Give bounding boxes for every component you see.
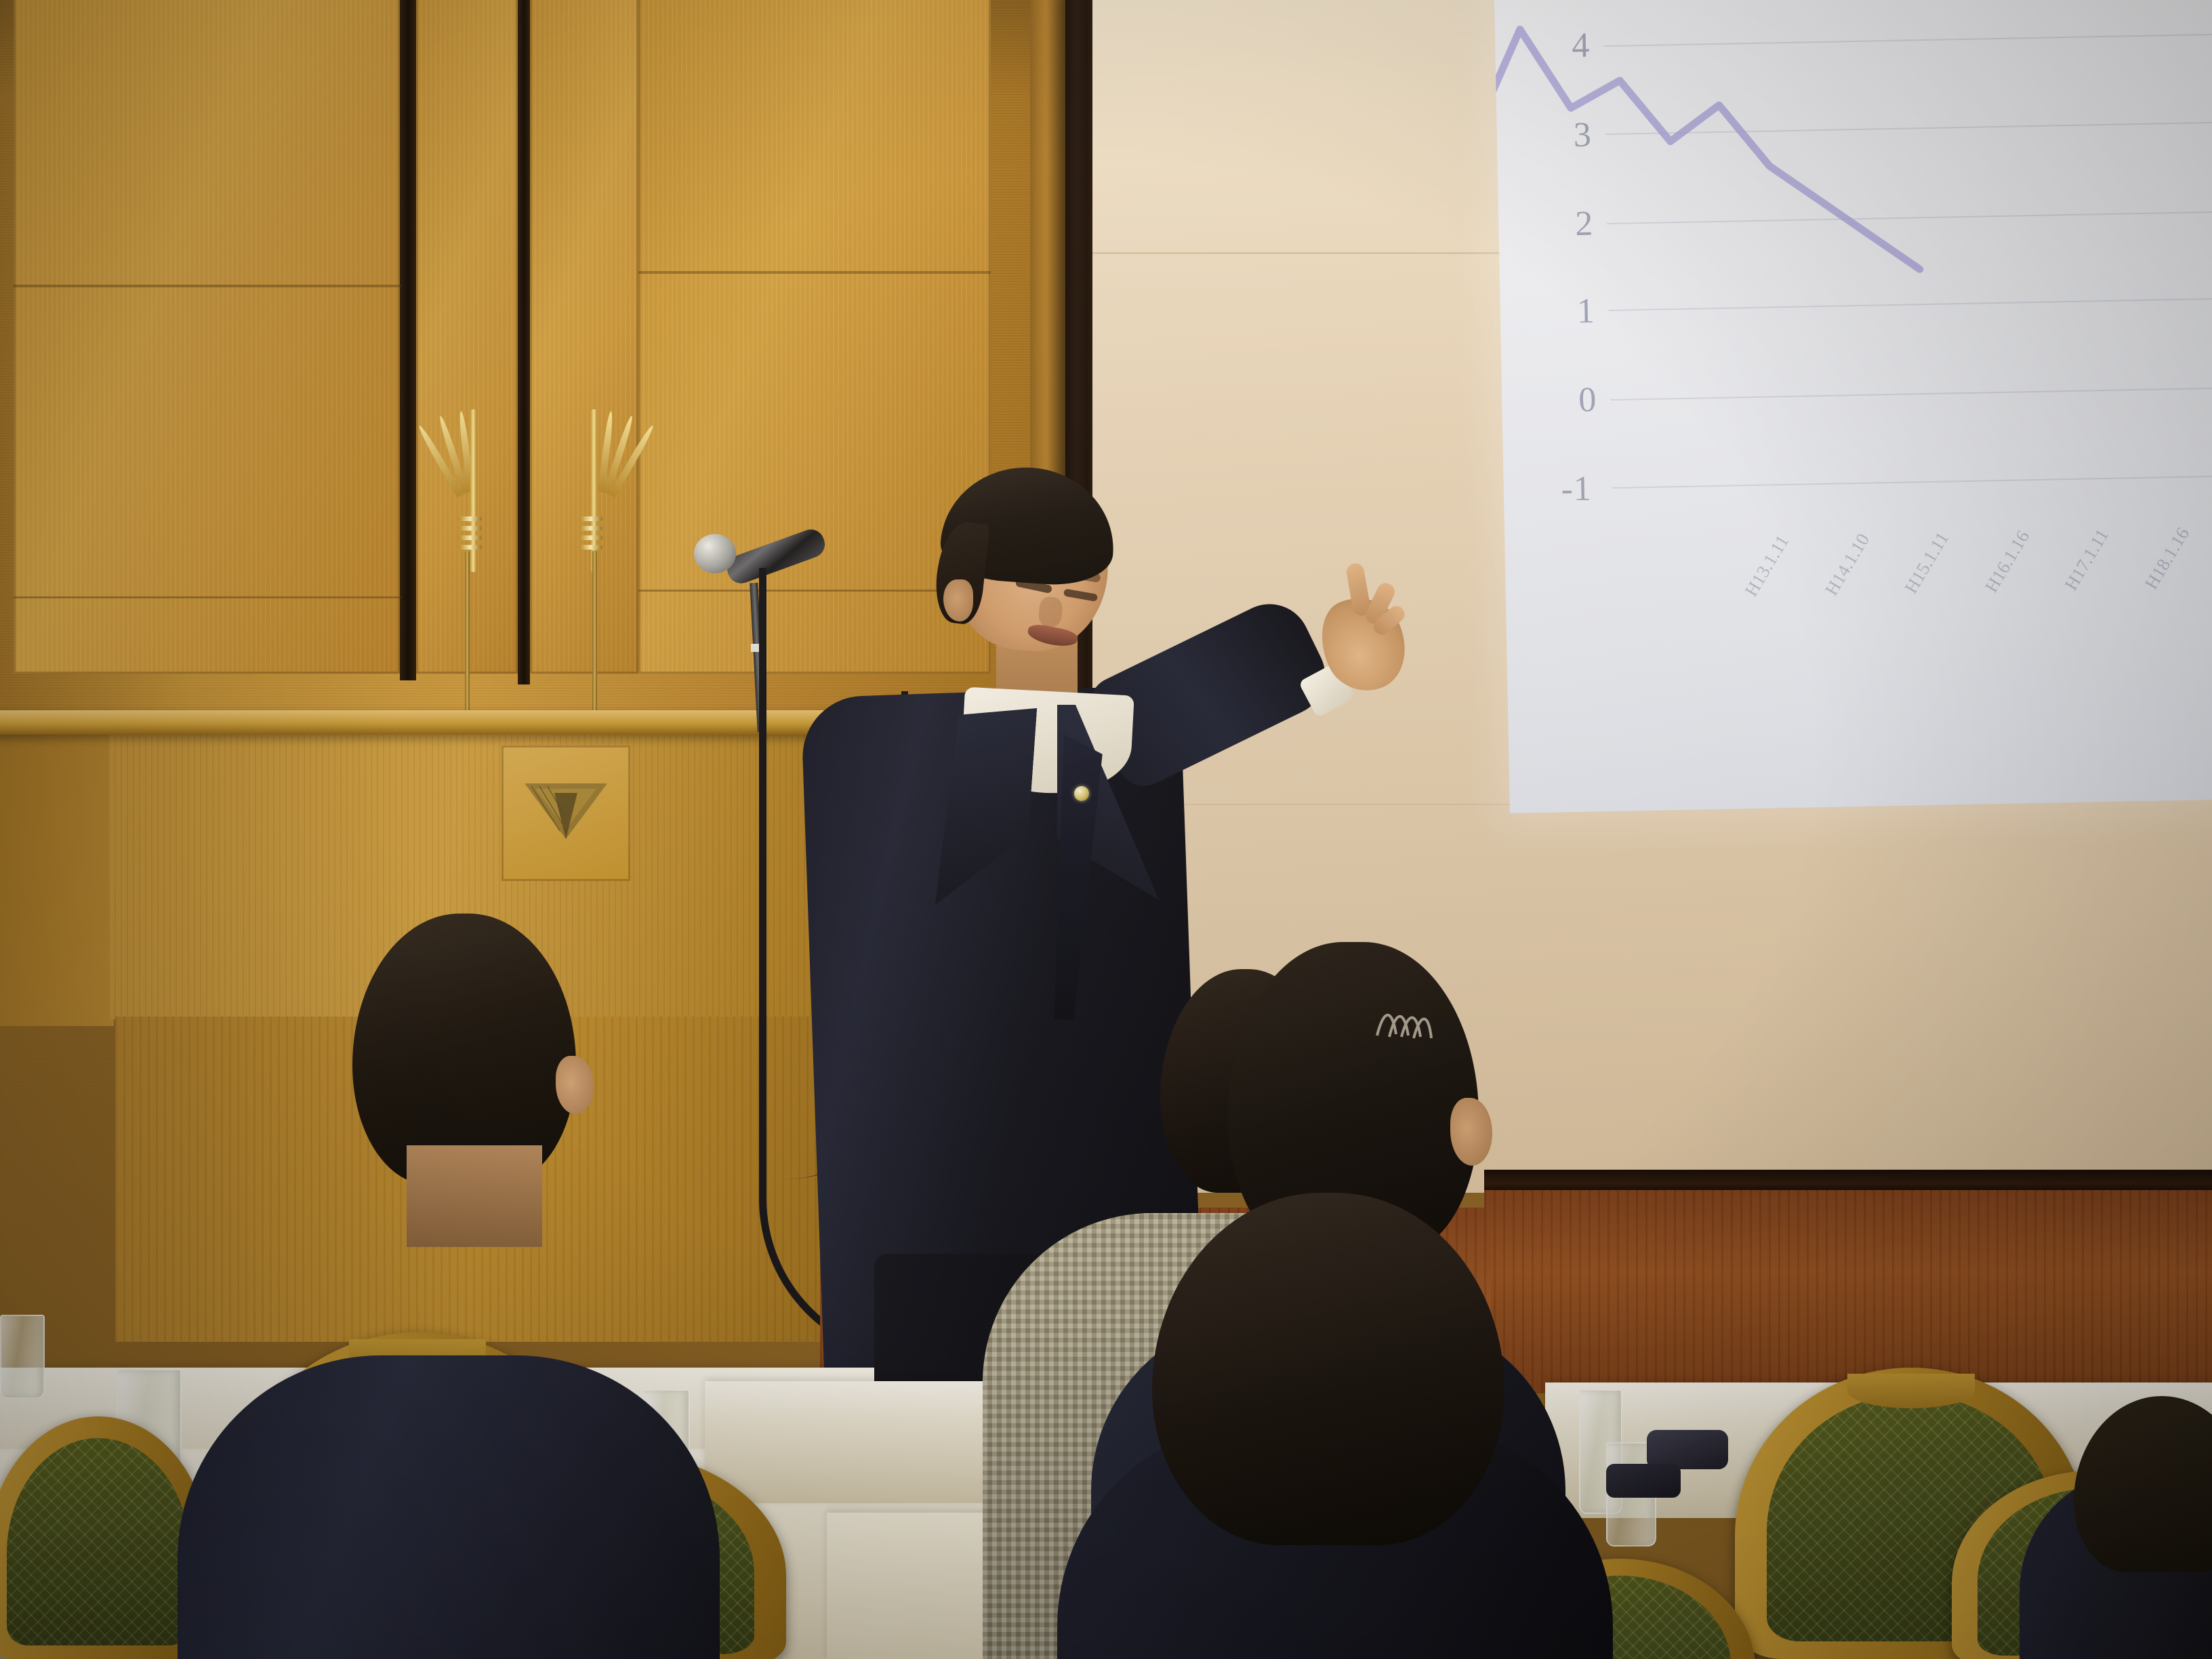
door-gap-left [400,0,416,680]
projection-screen: 4 3 2 1 0 -1 H13.1.11 H14.1.10 H15.1.11 … [1493,0,2212,813]
handle-band [459,516,482,521]
handle-band [579,526,602,531]
handle-band [459,545,482,550]
door-panel-left [14,0,400,674]
door-seam-left-lower [14,596,401,598]
door-seam-right [638,271,991,274]
door-seam-left [14,285,401,287]
podium-side-block [0,735,114,1026]
presenter-ear [943,579,973,621]
hair-clip-icon [1374,1002,1434,1042]
microphone-stand-band [751,644,764,652]
dark-object-on-table-2[interactable] [1606,1464,1681,1498]
audience-ear [556,1056,594,1114]
lapel-pin-icon [1074,786,1089,801]
handle-band [459,535,482,540]
handle-band [459,526,482,531]
wheat-sheaf-door-handle-left[interactable] [447,415,495,638]
audience-ear [1450,1098,1492,1166]
microphone-icon [694,534,736,573]
wheat-sheaf-door-handle-right[interactable] [596,415,644,638]
wainscot-panel-right [1484,1190,2212,1393]
handle-band [579,535,602,540]
stylized-w-logo-icon [522,779,610,842]
chart-line-series [1493,0,2212,813]
audience-neck [407,1145,542,1247]
chair-back-notch [1847,1374,1974,1409]
water-glass[interactable] [0,1315,45,1399]
handle-band [579,516,602,521]
photograph-scene: 4 3 2 1 0 -1 H13.1.11 H14.1.10 H15.1.11 … [0,0,2212,1659]
presenter-nose [1038,596,1063,628]
handle-band [579,545,602,550]
double-door [0,0,1057,718]
wainscot-rail [1484,1170,2212,1193]
presenter-eye-right [1063,588,1098,602]
audience-shoulders [178,1355,720,1659]
door-gap-center [518,0,530,684]
